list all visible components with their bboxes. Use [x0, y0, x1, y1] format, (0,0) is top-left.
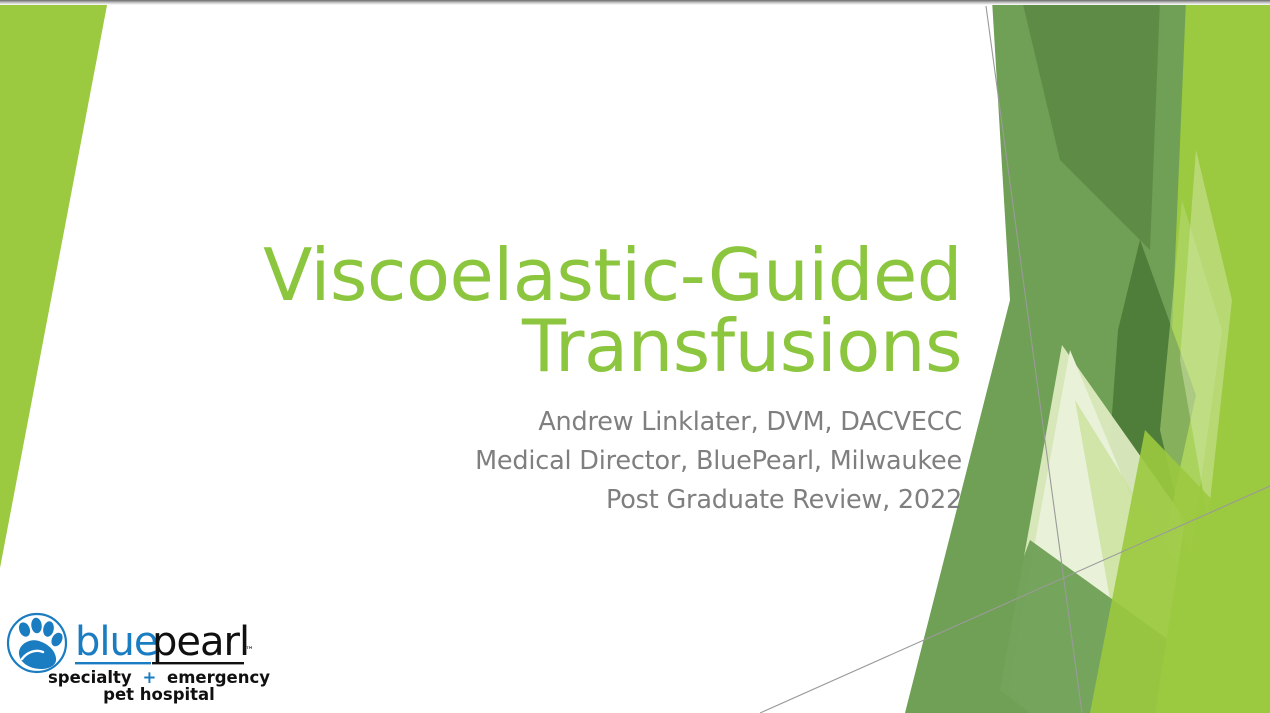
logo-word-pearl: pearl	[152, 619, 249, 665]
logo-tagline-line-2: pet hospital	[103, 685, 215, 704]
subtitle-block: Andrew Linklater, DVM, DACVECC Medical D…	[250, 403, 962, 521]
logo-underline-black	[152, 662, 244, 664]
logo-trademark: ™	[245, 646, 254, 656]
presentation-slide: Viscoelastic-Guided Transfusions Andrew …	[0, 0, 1270, 713]
subtitle-line-affiliation: Medical Director, BluePearl, Milwaukee	[250, 442, 962, 481]
page-title: Viscoelastic-Guided Transfusions	[250, 240, 962, 383]
logo-underline-blue	[75, 662, 151, 664]
subtitle-line-event: Post Graduate Review, 2022	[250, 481, 962, 520]
paw-print-icon	[8, 614, 66, 672]
left-green-triangle	[0, 0, 108, 568]
title-text-block: Viscoelastic-Guided Transfusions Andrew …	[250, 240, 962, 520]
title-line-2: Transfusions	[250, 311, 962, 382]
title-line-1: Viscoelastic-Guided	[250, 240, 962, 311]
bluepearl-logo-svg: blue pearl ™ specialty + emergency pet h…	[5, 607, 285, 707]
bluepearl-logo: blue pearl ™ specialty + emergency pet h…	[5, 607, 285, 707]
logo-word-blue: blue	[75, 619, 157, 665]
subtitle-line-author: Andrew Linklater, DVM, DACVECC	[250, 403, 962, 442]
